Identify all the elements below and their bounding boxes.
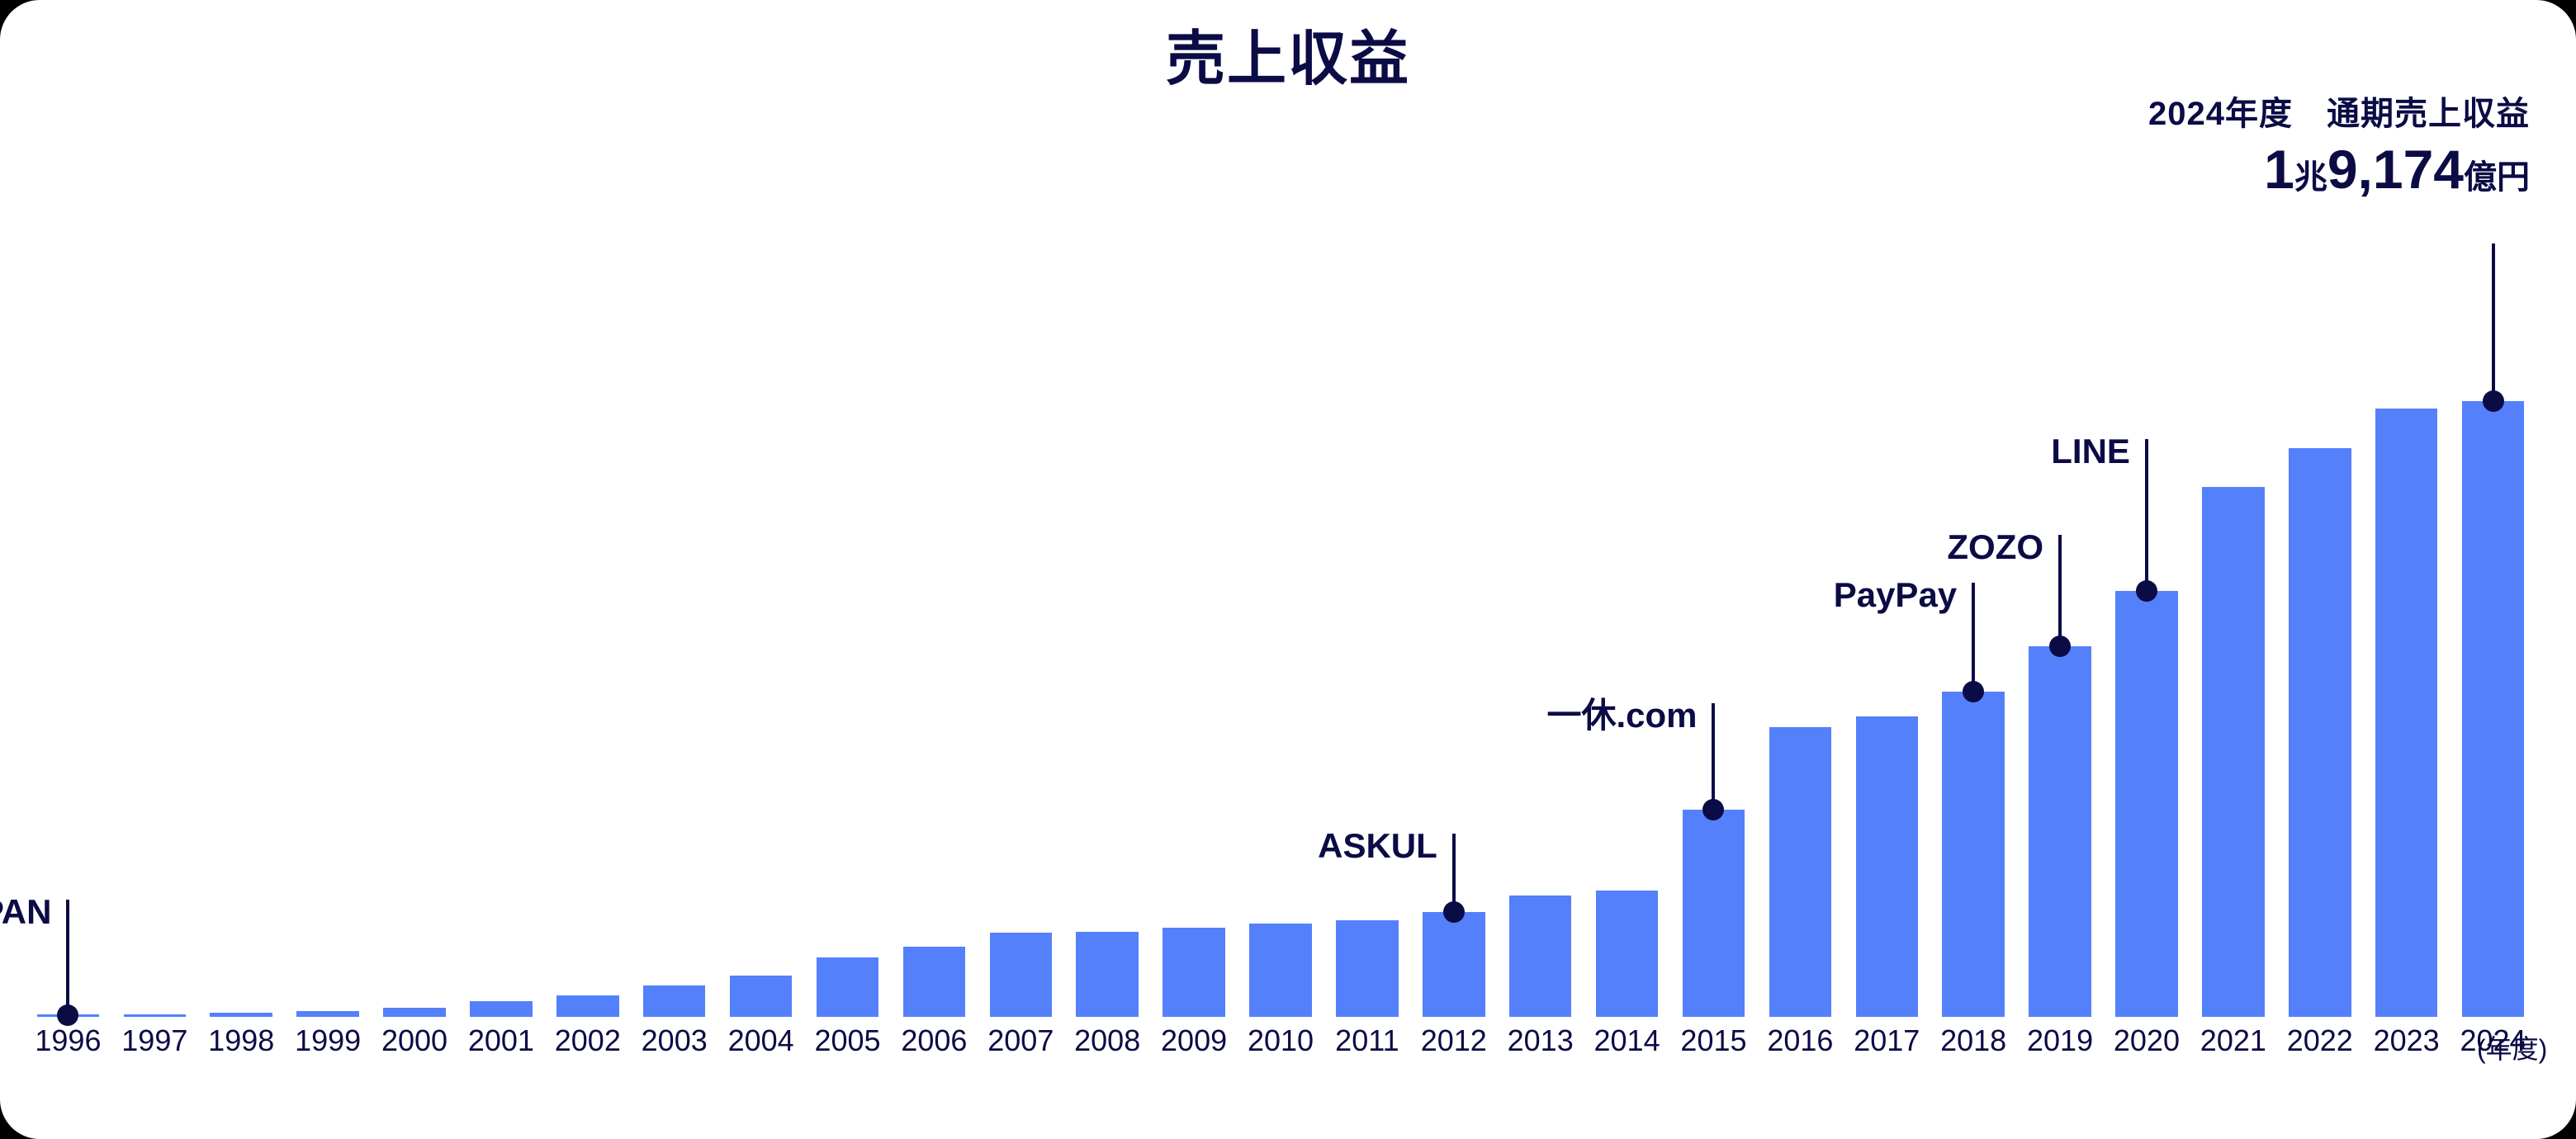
bar-2003 xyxy=(643,985,706,1017)
x-axis-label-2008: 2008 xyxy=(1064,1026,1151,1056)
bar-2024 xyxy=(2462,401,2525,1017)
x-axis-label-1997: 1997 xyxy=(111,1026,198,1056)
annotation-dot-ASKUL xyxy=(1443,901,1465,923)
bar-1998 xyxy=(210,1013,272,1017)
annotation-leader-line-ZOZO xyxy=(2058,535,2062,646)
bar-2010 xyxy=(1249,924,1312,1017)
x-axis-label-2006: 2006 xyxy=(891,1026,978,1056)
x-axis-label-2019: 2019 xyxy=(2017,1026,2104,1056)
bar-2011 xyxy=(1336,920,1399,1017)
bar-2006 xyxy=(903,947,966,1017)
x-axis-label-2016: 2016 xyxy=(1757,1026,1844,1056)
annotation-label-ASKUL: ASKUL xyxy=(942,829,1437,863)
bar-1999 xyxy=(296,1011,359,1017)
bar-2009 xyxy=(1163,928,1225,1017)
bar-chart-plot: 1996199719981999200020012002200320042005… xyxy=(0,0,2576,1139)
annotation-label-ZOZO: ZOZO xyxy=(1548,530,2043,565)
x-axis-label-2004: 2004 xyxy=(717,1026,804,1056)
annotation-leader-line-ASKUL xyxy=(1452,834,1456,912)
x-axis-label-2014: 2014 xyxy=(1584,1026,1670,1056)
annotation-label-一休.com: 一休.com xyxy=(1201,698,1697,733)
x-axis-label-2012: 2012 xyxy=(1410,1026,1497,1056)
x-axis-label-2015: 2015 xyxy=(1670,1026,1757,1056)
x-axis-label-1996: 1996 xyxy=(25,1026,111,1056)
annotation-leader-line-一休.com xyxy=(1712,703,1715,810)
x-axis-label-1999: 1999 xyxy=(285,1026,372,1056)
bar-2001 xyxy=(470,1001,533,1017)
bar-2012 xyxy=(1423,912,1485,1017)
x-axis-label-2021: 2021 xyxy=(2190,1026,2276,1056)
bar-2004 xyxy=(730,976,793,1017)
annotation-label-LINE: LINE xyxy=(1635,434,2130,469)
annotation-dot-PayPay xyxy=(1963,681,1984,702)
x-axis-label-2022: 2022 xyxy=(2276,1026,2363,1056)
bar-2023 xyxy=(2375,409,2438,1017)
x-axis-label-2009: 2009 xyxy=(1151,1026,1238,1056)
x-axis-label-2017: 2017 xyxy=(1844,1026,1930,1056)
x-axis-label-2011: 2011 xyxy=(1324,1026,1410,1056)
annotation-leader-line-LINE xyxy=(2145,439,2148,591)
x-axis-label-2010: 2010 xyxy=(1238,1026,1324,1056)
x-axis-label-2020: 2020 xyxy=(2104,1026,2190,1056)
bar-2019 xyxy=(2029,646,2091,1017)
x-axis-unit-label: (年度) xyxy=(2477,1028,2547,1066)
bar-2007 xyxy=(990,933,1053,1017)
annotation-leader-line-Yahoo! JAPAN xyxy=(66,900,69,1015)
annotation-leader-line-PayPay xyxy=(1972,583,1975,692)
annotation-dot-ZOZO xyxy=(2049,636,2071,657)
bar-2002 xyxy=(556,995,619,1017)
x-axis-label-2001: 2001 xyxy=(457,1026,544,1056)
x-axis-label-2005: 2005 xyxy=(804,1026,891,1056)
x-axis-label-2007: 2007 xyxy=(978,1026,1064,1056)
bar-2016 xyxy=(1769,727,1832,1017)
bar-2014 xyxy=(1596,891,1659,1017)
annotation-dot-LINE xyxy=(2136,580,2157,602)
x-axis-label-2003: 2003 xyxy=(631,1026,717,1056)
bar-2022 xyxy=(2289,448,2351,1017)
bar-2020 xyxy=(2115,591,2178,1017)
annotation-label-Yahoo! JAPAN: Yahoo! JAPAN xyxy=(0,895,51,929)
bar-2018 xyxy=(1942,692,2005,1017)
x-axis-label-2002: 2002 xyxy=(544,1026,631,1056)
bar-2013 xyxy=(1509,896,1572,1017)
bar-2005 xyxy=(817,957,879,1017)
x-axis-label-2018: 2018 xyxy=(1930,1026,2017,1056)
annotation-label-PayPay: PayPay xyxy=(1461,578,1957,612)
bar-2021 xyxy=(2202,487,2265,1017)
highlight-dot-2024 xyxy=(2483,390,2504,412)
x-axis-label-1998: 1998 xyxy=(198,1026,285,1056)
x-axis-label-2000: 2000 xyxy=(372,1026,458,1056)
bar-2000 xyxy=(383,1008,446,1017)
x-axis-label-2013: 2013 xyxy=(1497,1026,1584,1056)
bar-2015 xyxy=(1683,810,1745,1017)
bar-2017 xyxy=(1856,716,1919,1017)
x-axis-label-2023: 2023 xyxy=(2363,1026,2450,1056)
chart-card: 売上収益 2024年度 通期売上収益 1兆9,174億円 19961997199… xyxy=(0,0,2576,1139)
bar-2008 xyxy=(1076,932,1139,1017)
highlight-leader-line-2024 xyxy=(2492,243,2495,401)
bar-1997 xyxy=(124,1014,187,1017)
